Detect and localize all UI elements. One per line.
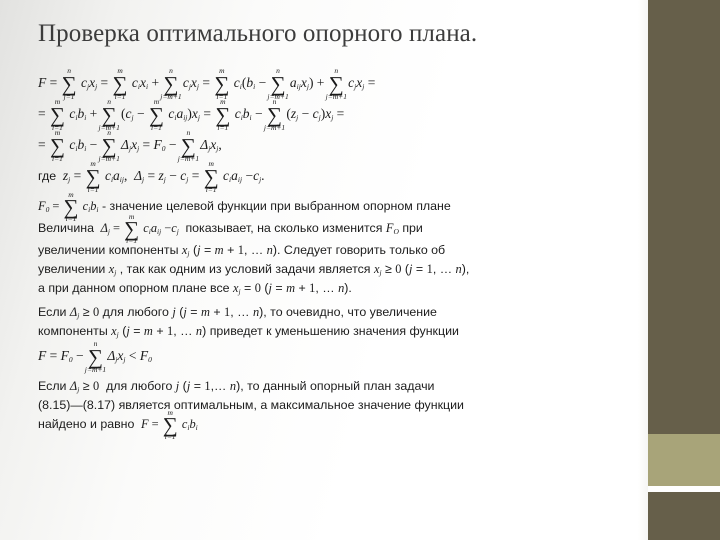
velichina-line: Величина Δj = m∑i=1 ciaij −cj показывает… (38, 220, 618, 237)
where-label: где (38, 169, 56, 183)
f0-definition-line: F0 = m∑i=1 cibi - значение целевой функц… (38, 198, 618, 215)
formula-where-line: где zj = m∑i=1 ciaij, Δj = zj − cj = m∑i… (38, 169, 618, 184)
delta-inline-formula: Δj = m∑i=1 ciaij −cj (97, 220, 182, 237)
slide-canvas: Проверка оптимального опорного плана. F … (0, 0, 720, 540)
formula-line-1: F = n∑j=1 cjxj = m∑i=1 cixi + n∑j=m+1 cj… (38, 76, 618, 91)
decorative-bar-top (648, 0, 720, 434)
formula-line-2: = m∑i=1 cibi + n∑j=m+1 (cj − m∑i=1 ciaij… (38, 107, 618, 122)
decorative-bar-accent (648, 434, 720, 486)
final-inline-formula: F = m∑i=1 cibi (138, 416, 198, 433)
slide-content: F = n∑j=1 cjxj = m∑i=1 cixi + n∑j=m+1 cj… (38, 72, 618, 435)
paragraph-3-line-2: (8.15)—(8.17) является оптимальным, а ма… (38, 397, 618, 413)
paragraph-1-line-3: а при данном опорном плане все xj = 0 (j… (38, 280, 618, 297)
slide-title: Проверка оптимального опорного плана. (38, 20, 618, 48)
f0-inline-formula: F0 = m∑i=1 cibi (38, 198, 99, 215)
paragraph-3-line-1: Если Δj ≥ 0 для любого j (j = 1,… n), то… (38, 378, 618, 395)
paragraph-2-line-1: Если Δj ≥ 0 для любого j (j = m + 1, … n… (38, 304, 618, 321)
paragraph-3-line-3: найдено и равно F = m∑i=1 cibi (38, 416, 618, 433)
paragraph-1-line-2: увеличении xj , так как одним из условий… (38, 261, 618, 278)
slide-edge-gradient (638, 0, 648, 540)
formula-f-less-f0: F = F0 − n∑j=m+1 Δjxj < F0 (38, 349, 618, 364)
velichina-text: показывает, на сколько изменится FO при (185, 221, 422, 235)
paragraph-2-line-2: компоненты xj (j = m + 1, … n) приведет … (38, 323, 618, 340)
formula-line-3: = m∑i=1 cibi − n∑j=m+1 Δjxj = F0 − n∑j=m… (38, 138, 618, 153)
paragraph-3-text: найдено и равно (38, 417, 134, 431)
decorative-bar-bottom (648, 492, 720, 540)
f0-definition-text: - значение целевой функции при выбранном… (102, 199, 451, 213)
paragraph-1-line-1: увеличении компоненты xj (j = m + 1, … n… (38, 242, 618, 259)
